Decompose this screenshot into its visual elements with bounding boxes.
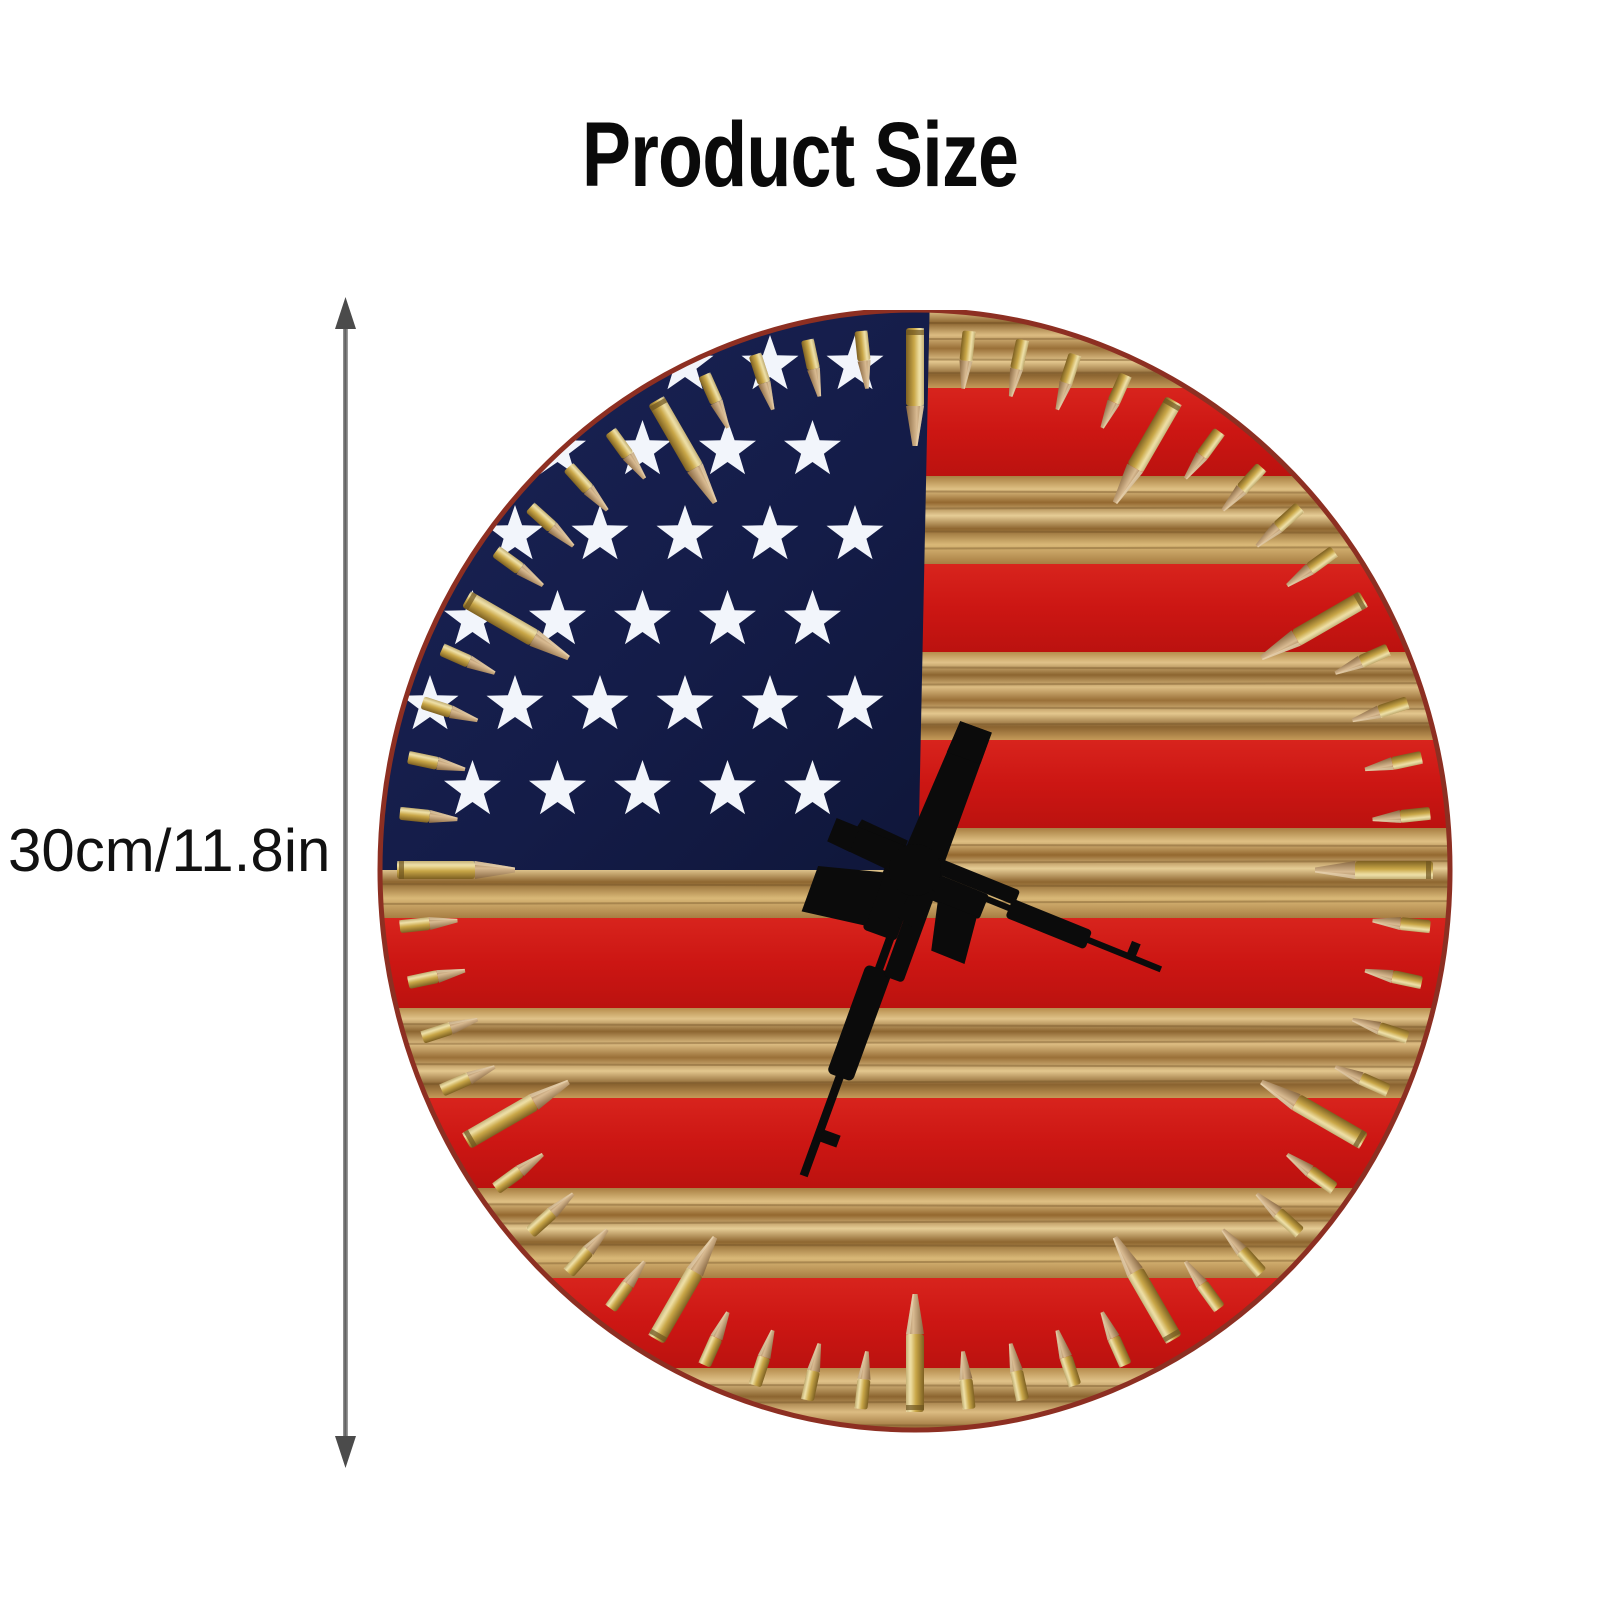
star — [487, 335, 544, 389]
product-size-figure: Product Size 30cm/11.8in — [0, 0, 1600, 1600]
clock-center-hub — [889, 844, 941, 896]
star — [402, 335, 459, 389]
clock-face — [370, 310, 1460, 1460]
dimension-arrow-head-bottom — [335, 1436, 356, 1468]
star — [444, 420, 501, 474]
product-image-clock — [370, 310, 1460, 1460]
dimension-label: 30cm/11.8in — [8, 815, 328, 887]
star — [572, 335, 629, 389]
dimension-arrow-shaft — [343, 311, 348, 1454]
star — [402, 505, 459, 559]
page-title: Product Size — [160, 105, 1440, 205]
dimension-arrow-head-top — [335, 297, 356, 329]
